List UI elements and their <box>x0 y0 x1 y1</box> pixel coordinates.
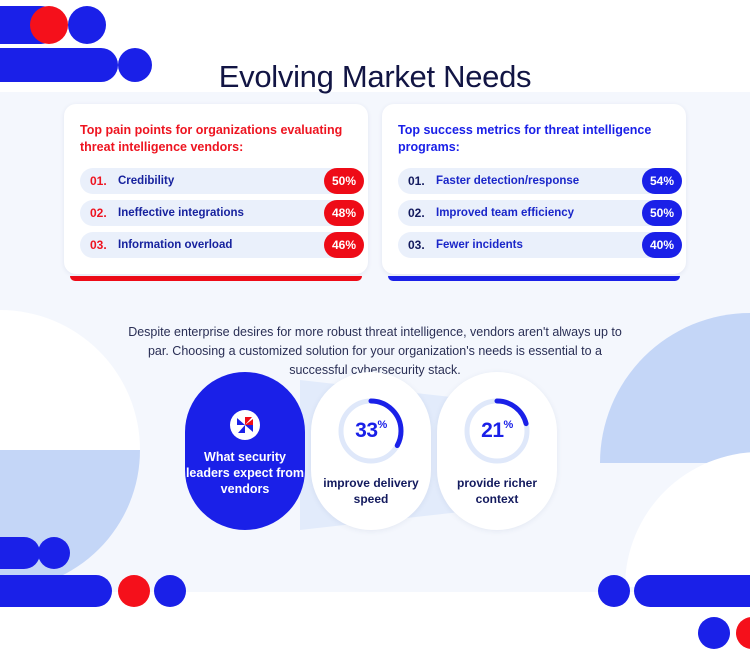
row-number: 01. <box>90 174 118 188</box>
deco-pill-bottom-right-1 <box>634 575 750 607</box>
card-pain-points: Top pain points for organizations evalua… <box>64 104 368 274</box>
donut-unit: % <box>378 419 387 431</box>
pinwheel-logo-icon <box>230 410 260 440</box>
expectations-capsule-group: What security leaders expect from vendor… <box>185 372 565 530</box>
capsule-what-security-leaders-expect: What security leaders expect from vendor… <box>185 372 305 530</box>
status-badge: 48% <box>324 200 364 226</box>
donut-number: 21 <box>481 419 503 443</box>
status-badge: 50% <box>642 200 682 226</box>
page-title: Evolving Market Needs <box>0 59 750 95</box>
stat-caption: improve delivery speed <box>311 476 431 507</box>
card-heading-pain-points: Top pain points for organizations evalua… <box>80 122 352 156</box>
capsule-stat-improve-delivery-speed: 33% improve delivery speed <box>311 372 431 530</box>
status-badge: 40% <box>642 232 682 258</box>
status-badge: 50% <box>324 168 364 194</box>
row-number: 03. <box>90 238 118 252</box>
deco-dot-blue-bottom-right-1 <box>598 575 630 607</box>
row-label: Fewer incidents <box>436 239 523 251</box>
capsule-caption: What security leaders expect from vendor… <box>185 449 305 497</box>
deco-dot-red-top <box>30 6 68 44</box>
donut-unit: % <box>504 419 513 431</box>
row-label: Information overload <box>118 239 232 251</box>
metric-list-success-metrics: 01. Faster detection/response 54% 02. Im… <box>398 168 670 258</box>
table-row[interactable]: 01. Faster detection/response 54% <box>398 168 670 194</box>
card-success-metrics: Top success metrics for threat intellige… <box>382 104 686 274</box>
table-row[interactable]: 02. Improved team efficiency 50% <box>398 200 670 226</box>
card-accent-bar-red <box>70 276 362 281</box>
row-number: 02. <box>408 206 436 220</box>
infographic-canvas: Evolving Market Needs Top pain points fo… <box>0 0 750 651</box>
deco-pill-bottom-left-1 <box>0 537 40 569</box>
donut-chart-33: 33% <box>335 395 407 467</box>
deco-dot-blue-bottom-1 <box>38 537 70 569</box>
metric-cards-row: Top pain points for organizations evalua… <box>64 104 686 274</box>
donut-value-33: 33% <box>335 395 407 467</box>
row-label: Faster detection/response <box>436 175 579 187</box>
capsule-stat-provide-richer-context: 21% provide richer context <box>437 372 557 530</box>
deco-pill-bottom-left-2 <box>0 575 112 607</box>
table-row[interactable]: 03. Fewer incidents 40% <box>398 232 670 258</box>
table-row[interactable]: 01. Credibility 50% <box>80 168 352 194</box>
table-row[interactable]: 02. Ineffective integrations 48% <box>80 200 352 226</box>
deco-dot-blue-bottom-2 <box>154 575 186 607</box>
row-number: 02. <box>90 206 118 220</box>
metric-list-pain-points: 01. Credibility 50% 02. Ineffective inte… <box>80 168 352 258</box>
deco-dot-blue-top <box>68 6 106 44</box>
row-label: Ineffective integrations <box>118 207 244 219</box>
row-number: 03. <box>408 238 436 252</box>
status-badge: 46% <box>324 232 364 258</box>
row-number: 01. <box>408 174 436 188</box>
stat-caption: provide richer context <box>437 476 557 507</box>
deco-dot-blue-bottom-right-2 <box>698 617 730 649</box>
card-accent-bar-blue <box>388 276 680 281</box>
row-label: Credibility <box>118 175 174 187</box>
deco-dot-red-bottom <box>118 575 150 607</box>
donut-value-21: 21% <box>461 395 533 467</box>
donut-number: 33 <box>355 419 377 443</box>
card-heading-success-metrics: Top success metrics for threat intellige… <box>398 122 670 156</box>
donut-chart-21: 21% <box>461 395 533 467</box>
status-badge: 54% <box>642 168 682 194</box>
row-label: Improved team efficiency <box>436 207 574 219</box>
table-row[interactable]: 03. Information overload 46% <box>80 232 352 258</box>
